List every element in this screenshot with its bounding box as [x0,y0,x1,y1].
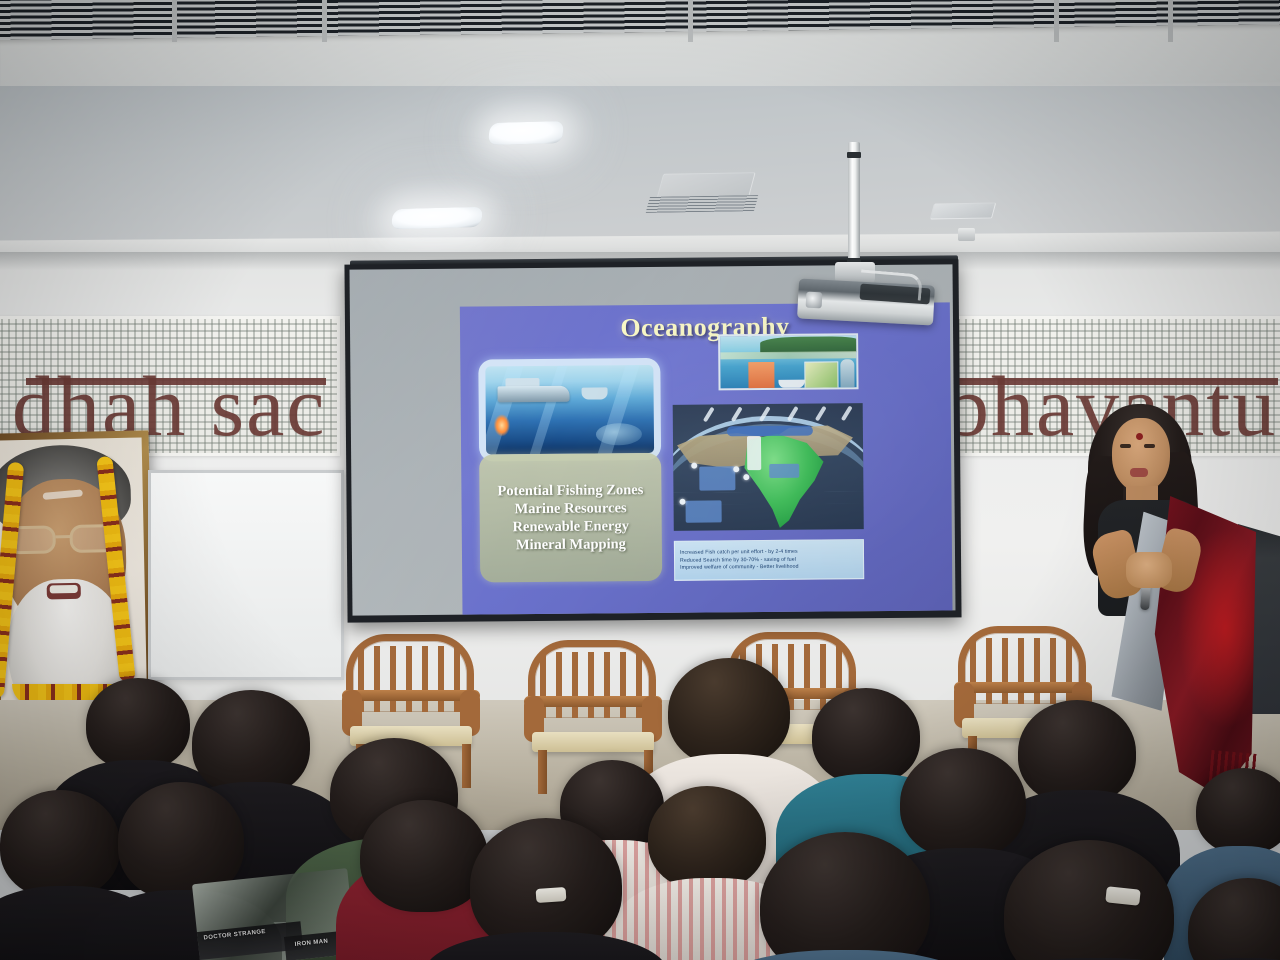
audience-head [812,688,920,784]
list-item: Renewable Energy [512,518,629,535]
fishing-boat-icon [778,380,804,388]
seated-audience: DOCTOR STRANGE IRON MAN [0,640,1280,960]
map-callout-dot [680,499,686,505]
map-callout-dot [733,466,739,472]
spectacles-icon [5,524,124,556]
vent-seam [172,0,177,42]
hair-clip-icon [536,887,567,903]
audience-head [668,658,790,766]
audience-head [648,786,766,890]
list-item: Marine Resources [514,500,626,517]
vent-seam [688,0,693,42]
ceiling [0,0,1280,258]
slide-facts-box: Increased Fish catch per unit effort - b… [674,539,864,581]
presenter-eye-right [1144,444,1155,448]
vent-seam [1168,0,1173,42]
inset-photo [804,361,838,389]
vent-seam [322,0,327,42]
map-callout-dot [743,474,749,480]
presenter-face [1112,418,1170,492]
map-callout-box [686,500,722,522]
projector-mount-pole [848,142,860,270]
ceiling-access-panel [930,202,997,219]
shoreline-strip [720,351,856,359]
audience-head [900,748,1026,858]
presenter-hands [1126,552,1172,588]
ceiling-diffuser-grille [646,195,759,213]
ocean-research-vessel-photo [478,358,661,462]
audience-head [1196,768,1280,854]
audience-head [1018,700,1136,804]
small-boat-icon [582,387,608,399]
map-callout-dot [691,463,697,469]
satellite-beam [815,406,827,422]
list-item: Mineral Mapping [516,536,626,553]
map-callout-box [699,466,735,490]
map-callout-box [769,464,799,478]
ceiling-led-light-1 [488,121,564,145]
ceiling-led-light-2 [391,207,484,229]
portrait-teeth [50,585,78,594]
presenter-mouth [1130,468,1148,477]
projector-cable [859,269,923,300]
satellite-beam [703,407,715,423]
submersible-icon [596,423,642,445]
spectacle-bridge [56,535,72,538]
smoke-detector-icon [958,228,975,241]
audience-head [192,690,310,796]
seminar-hall-scene: dhah sac bhavantu [0,0,1280,960]
presentation-slide: Oceanography [460,302,953,615]
underwater-flare [494,414,510,436]
bindi-icon [1136,433,1143,440]
presenter-eye-left [1120,444,1131,448]
spectacle-lens-left [7,525,56,554]
vent-seam [1054,0,1059,42]
projector-lens-icon [806,292,823,309]
coastal-scene-photo [718,333,858,390]
audience-head [360,800,488,912]
india-satellite-map [673,403,864,531]
research-vessel-icon [498,386,570,403]
satellite-beam [841,405,853,421]
graphic-tee-print: DOCTOR STRANGE IRON MAN [192,868,356,960]
slide-bullet-box: Potential Fishing Zones Marine Resources… [479,453,662,583]
ocean-photo-content [485,365,654,454]
pole-band [847,152,861,158]
audience-head [86,678,190,770]
map-header-banner [727,426,813,437]
person-figure [840,359,854,389]
hair-clip-icon [1105,886,1140,905]
audience-head [0,790,120,898]
orange-buoy [748,362,774,390]
fact-line: Improved welfare of community - Better l… [680,564,858,572]
list-item: Potential Fishing Zones [497,482,643,500]
spectacle-lens-right [69,524,118,553]
map-white-callout [747,436,761,470]
